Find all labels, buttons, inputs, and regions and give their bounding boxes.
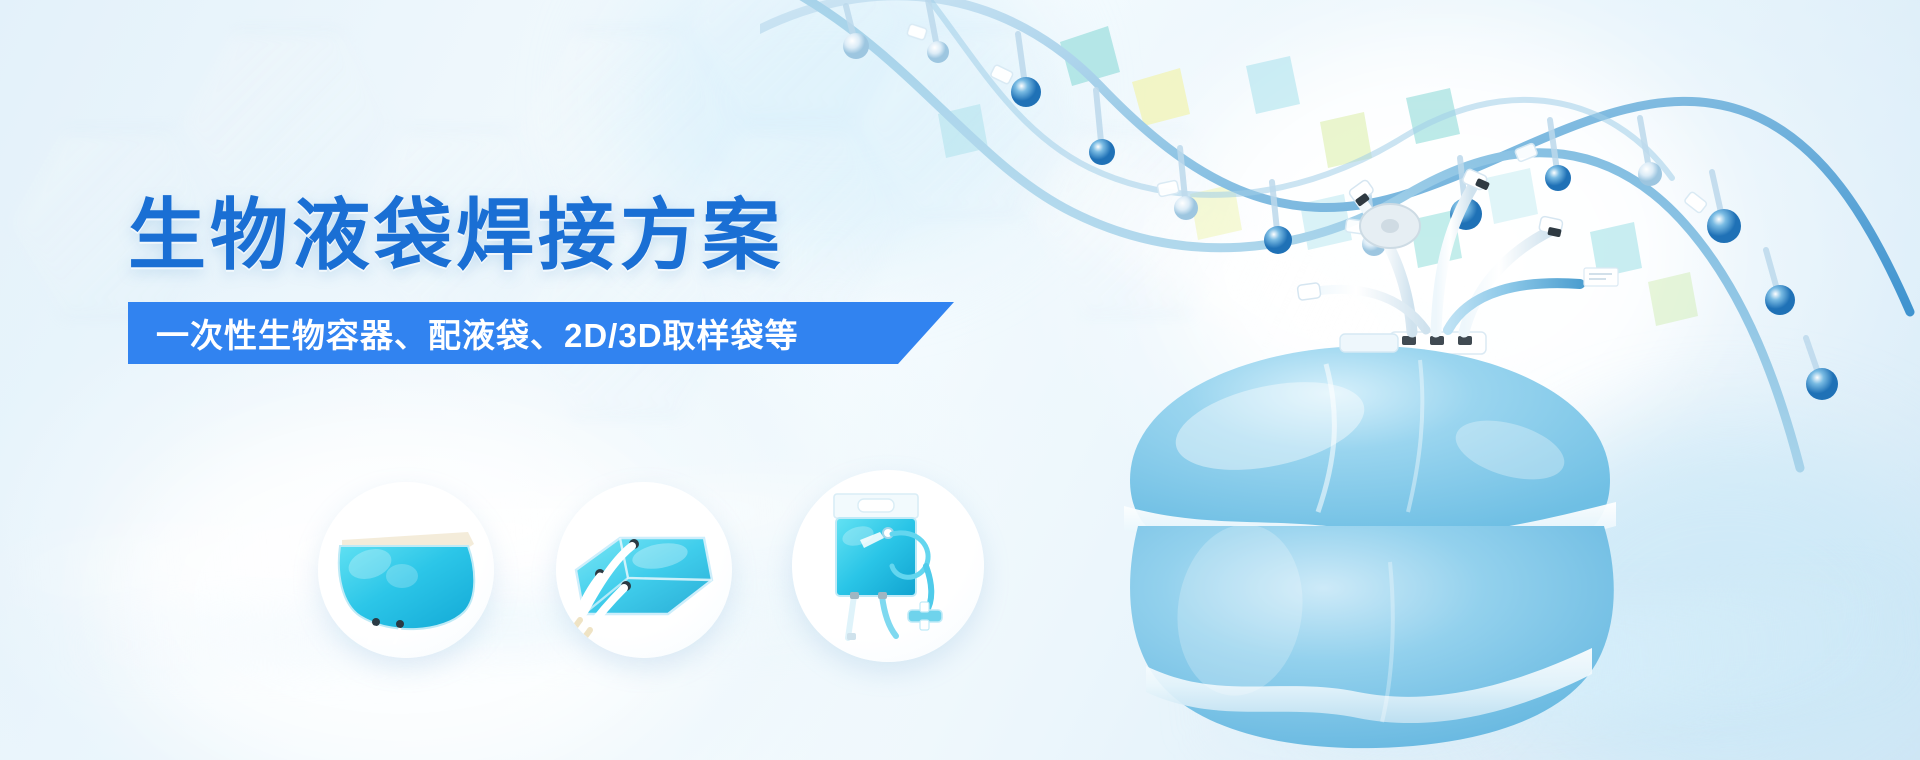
page-title: 生物液袋焊接方案: [128, 196, 1028, 274]
hexagon-shape: [520, 30, 734, 216]
bioprocess-bag-image: [1090, 330, 1650, 750]
thumbnail-pillow-bag[interactable]: [318, 482, 494, 658]
thumbnail-3d-bag[interactable]: [556, 482, 732, 658]
hexagon-shape: [180, 30, 394, 216]
thumbnail-2d-sampling-bag[interactable]: [792, 470, 984, 662]
subtitle-text: 一次性生物容器、配液袋、2D/3D取样袋等: [156, 309, 799, 357]
2d-sampling-bag-icon: [792, 470, 984, 662]
bag-port: [1340, 334, 1398, 352]
subtitle-banner: 一次性生物容器、配液袋、2D/3D取样袋等: [128, 302, 954, 364]
pillow-bag-icon: [318, 482, 494, 658]
bag-handle: [858, 499, 894, 512]
headline-block: 生物液袋焊接方案 一次性生物容器、配液袋、2D/3D取样袋等: [128, 196, 1028, 364]
3d-bag-icon: [556, 482, 732, 658]
label-tag: [1584, 268, 1618, 286]
hero-banner: 生物液袋焊接方案 一次性生物容器、配液袋、2D/3D取样袋等: [0, 0, 1920, 760]
